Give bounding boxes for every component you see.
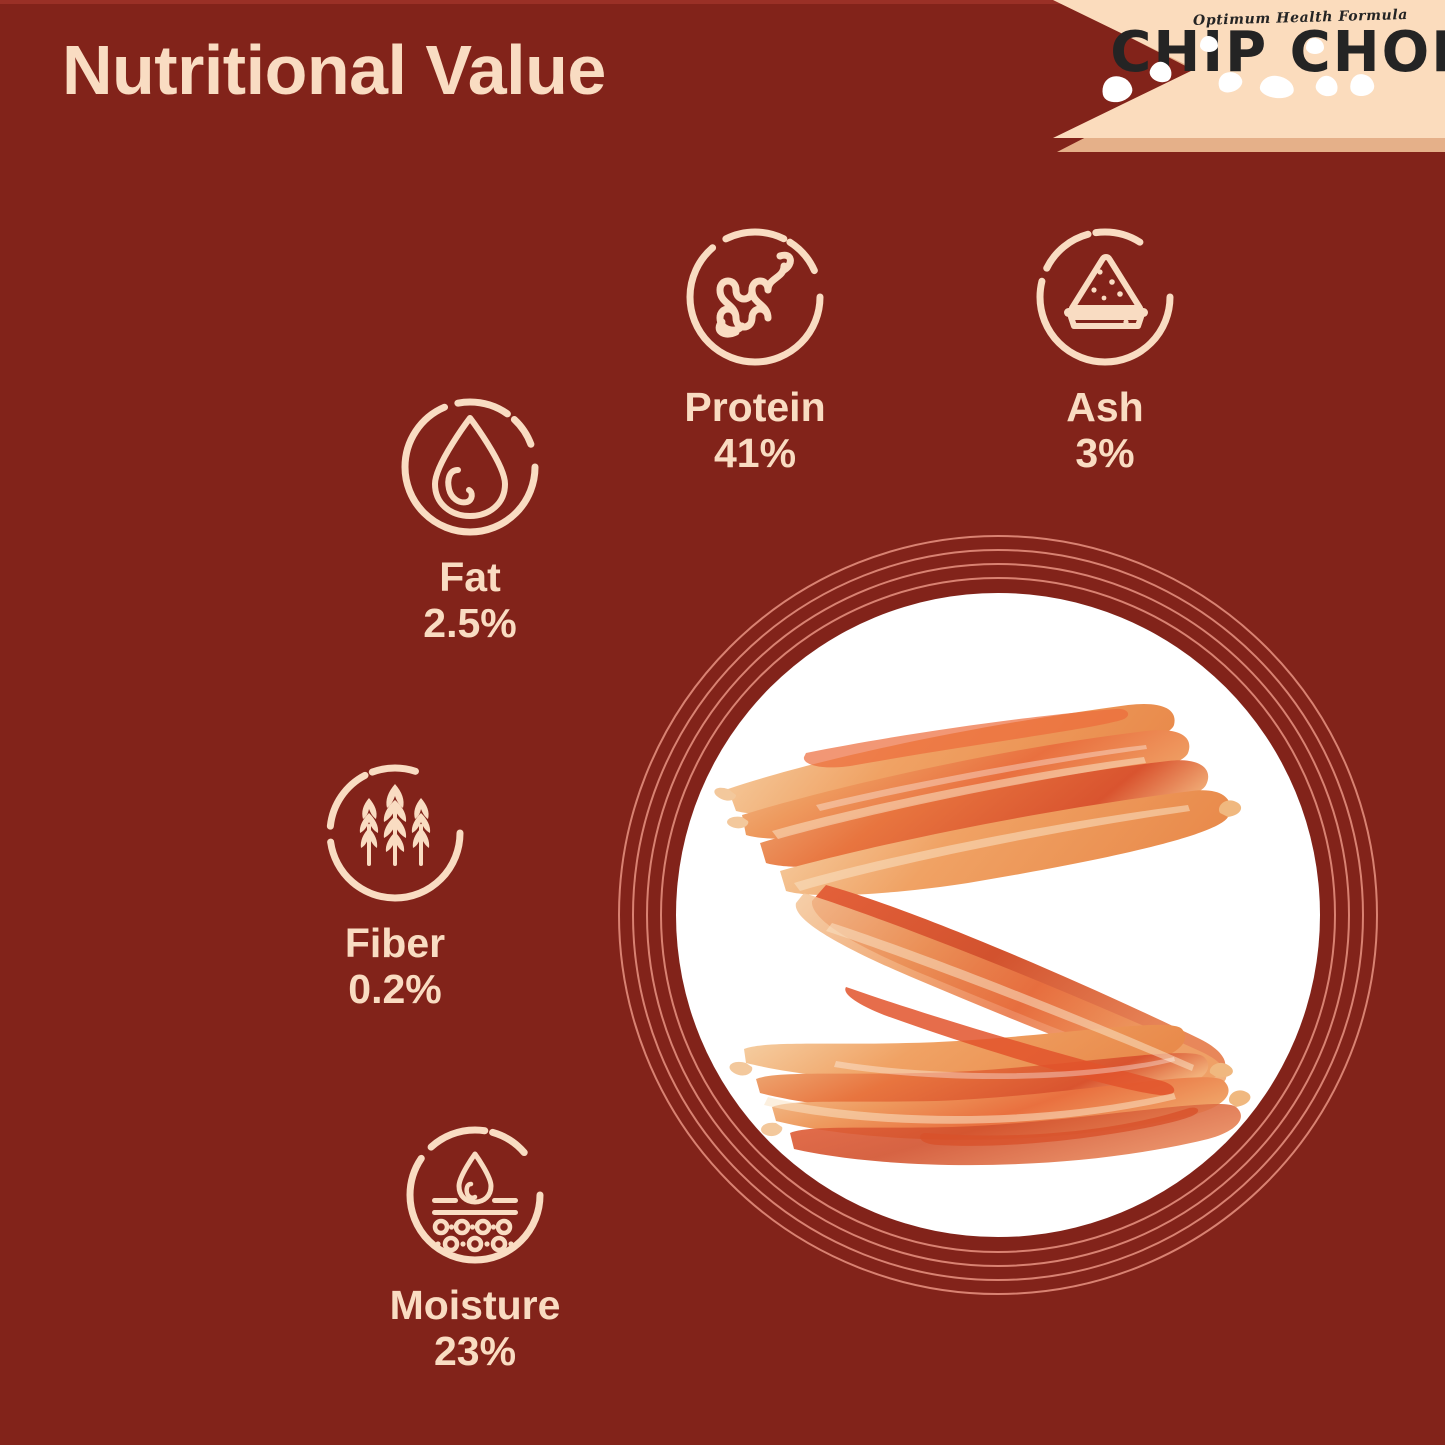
product-photo xyxy=(676,593,1320,1237)
fiber-wheat-icon xyxy=(320,758,470,908)
page-title: Nutritional Value xyxy=(62,30,606,110)
ash-tray-icon xyxy=(1030,222,1180,372)
nutrient-moisture: Moisture 23% xyxy=(360,1120,590,1376)
nutrient-fat: Fat 2.5% xyxy=(355,392,585,648)
nutrient-value: 23% xyxy=(434,1327,516,1375)
fat-droplet-icon xyxy=(395,392,545,542)
nutrient-value: 2.5% xyxy=(423,599,516,647)
protein-dna-icon xyxy=(680,222,830,372)
product-photo-group xyxy=(618,535,1378,1295)
moisture-skin-icon xyxy=(400,1120,550,1270)
nutrient-label: Fiber xyxy=(345,922,445,965)
brand-banner: Optimum Health Formula CHIP CHOPs xyxy=(1035,0,1445,152)
nutrient-value: 0.2% xyxy=(348,965,441,1013)
nutrient-fiber: Fiber 0.2% xyxy=(280,758,510,1014)
nutrient-protein: Protein 41% xyxy=(640,222,870,478)
nutrient-value: 3% xyxy=(1075,429,1134,477)
brand-logo: Optimum Health Formula CHIP CHOPs xyxy=(1165,8,1435,133)
nutrient-ash: Ash 3% xyxy=(990,222,1220,478)
brand-name-main: CHIP CHOP xyxy=(1110,20,1445,85)
nutrient-label: Moisture xyxy=(390,1284,561,1327)
nutrient-label: Protein xyxy=(684,386,825,429)
nutrient-label: Fat xyxy=(439,556,501,599)
infographic-canvas: Nutritional Value Optimum Health Formula… xyxy=(0,0,1445,1445)
nutrient-label: Ash xyxy=(1066,386,1143,429)
brand-name: CHIP CHOPs xyxy=(1110,24,1445,83)
nutrient-value: 41% xyxy=(714,429,796,477)
